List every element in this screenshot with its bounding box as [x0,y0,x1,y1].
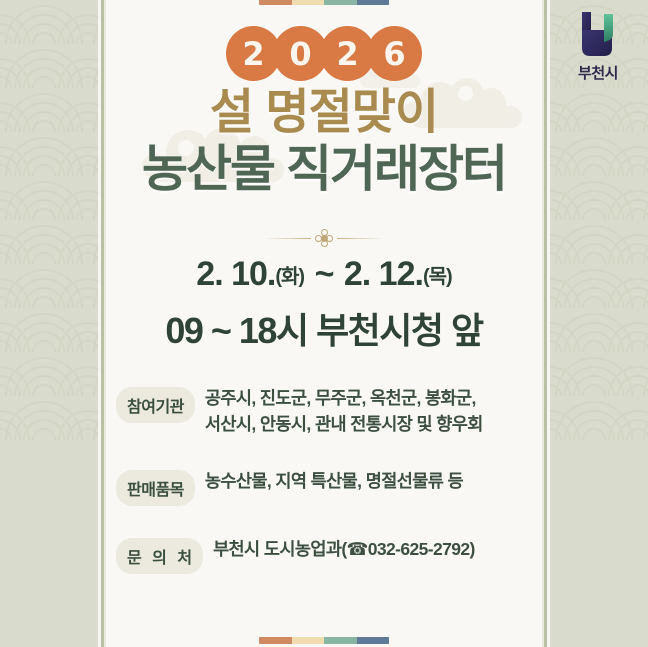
info-label-participants: 참여기관 [116,387,195,423]
color-bar-segment-1 [259,0,292,5]
event-date-line: 2. 10.(화) ~ 2. 12.(목) [106,255,542,294]
ornamental-divider [264,228,384,248]
headline: 설 명절맞이 농산물 직거래장터 [106,86,542,197]
right-wave-band [550,0,648,647]
event-time-place: 09 ~ 18시 부천시청 앞 [106,302,542,354]
bottom-color-bar-segment-3 [324,637,357,644]
info-row-contact: 문 의 처 부천시 도시농업과(☎032-625-2792) [106,536,542,574]
info-value-items-line-1: 농수산물, 지역 특산물, 명절선물류 등 [205,468,463,494]
date-end: 2. 12. [344,255,423,293]
poster-card: 2 0 2 6 설 명절맞이 농산물 직거래장터 2. 10.(화) ~ [106,0,542,647]
color-bar-segment-3 [324,0,357,5]
date-range-mark: ~ [315,255,334,293]
date-start: 2. 10. [196,255,275,293]
bottom-color-bar-segment-1 [259,637,292,644]
date-end-dayofweek: (목) [423,266,452,288]
flower-ornament-icon [315,229,333,247]
info-value-participants: 공주시, 진도군, 무주군, 옥천군, 봉화군, 서산시, 안동시, 관내 전통… [205,385,483,438]
divider-line-left [264,238,311,239]
info-list: 참여기관 공주시, 진도군, 무주군, 옥천군, 봉화군, 서산시, 안동시, … [106,385,542,604]
color-bar-segment-2 [292,0,325,5]
bottom-color-bar-segment-2 [292,637,325,644]
headline-line-2: 농산물 직거래장터 [106,142,542,197]
info-row-participants: 참여기관 공주시, 진도군, 무주군, 옥천군, 봉화군, 서산시, 안동시, … [106,385,542,438]
bottom-color-bar-segment-4 [357,637,390,644]
bucheon-city-logo: 부천시 [560,8,636,83]
info-value-participants-line-2: 서산시, 안동시, 관내 전통시장 및 향우회 [205,411,483,437]
headline-line-1: 설 명절맞이 [106,86,542,140]
poster-root: 2 0 2 6 설 명절맞이 농산물 직거래장터 2. 10.(화) ~ [0,0,648,647]
info-value-contact-line-1: 부천시 도시농업과(☎032-625-2792) [213,536,475,562]
left-wave-band [0,0,98,647]
info-label-items: 판매품목 [116,470,195,506]
info-label-contact: 문 의 처 [116,538,203,574]
bottom-color-bar [259,637,389,644]
info-value-contact: 부천시 도시농업과(☎032-625-2792) [213,536,475,562]
right-border-rule [544,0,547,647]
top-color-bar [259,0,389,5]
info-row-items: 판매품목 농수산물, 지역 특산물, 명절선물류 등 [106,468,542,506]
divider-line-right [337,238,384,239]
year-digit-4: 6 [367,26,422,81]
date-start-dayofweek: (화) [275,266,304,288]
info-value-items: 농수산물, 지역 특산물, 명절선물류 등 [205,468,463,494]
info-value-participants-line-1: 공주시, 진도군, 무주군, 옥천군, 봉화군, [205,385,483,411]
color-bar-segment-4 [357,0,390,5]
year-badge: 2 0 2 6 [226,26,422,81]
bucheon-logo-name: 부천시 [560,62,636,83]
right-border-rule-inner [542,0,544,647]
left-wave-pattern [0,0,98,442]
bucheon-logo-mark-icon [572,8,624,60]
